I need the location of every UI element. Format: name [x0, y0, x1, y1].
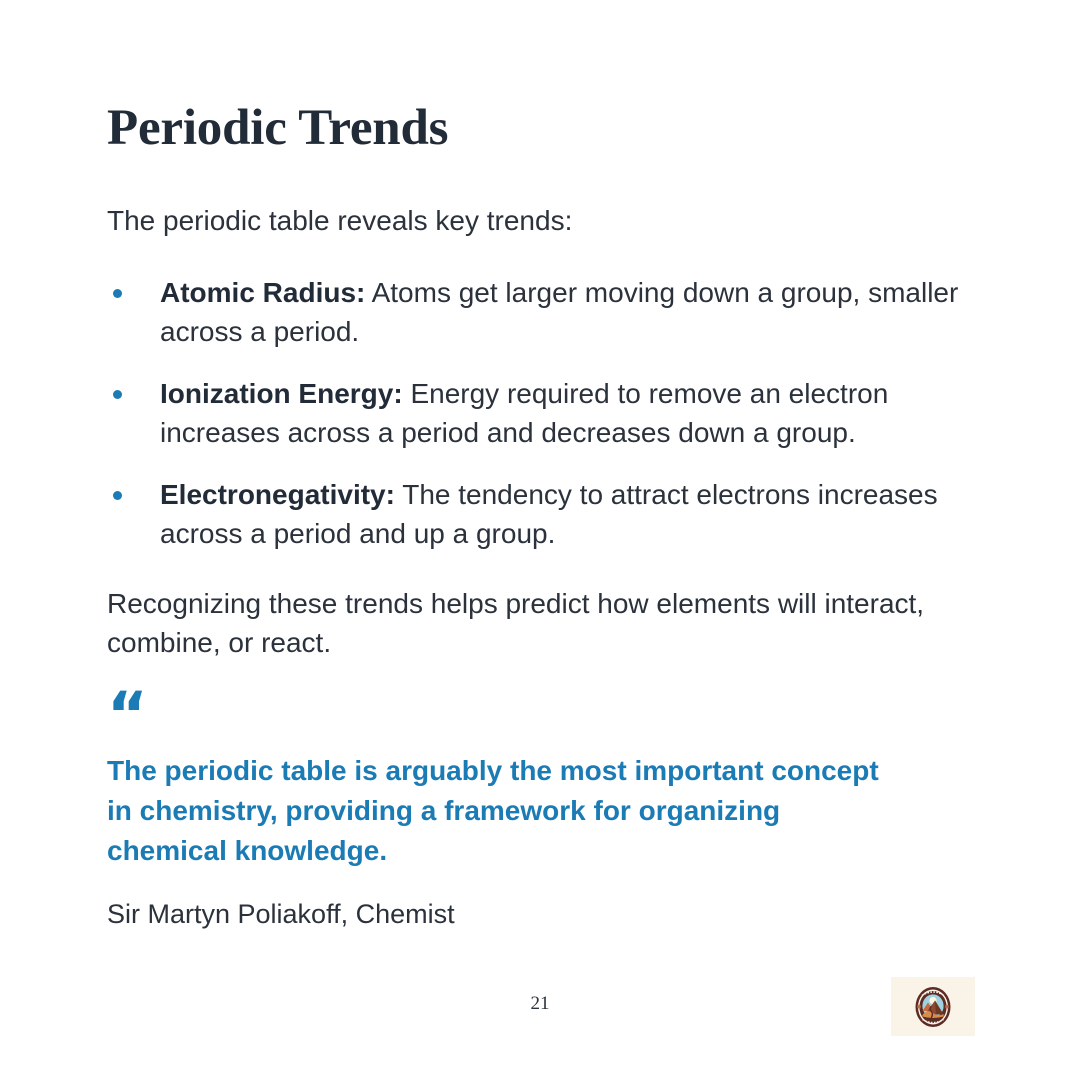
open-quote-icon: “: [107, 693, 975, 737]
list-item: Ionization Energy: Energy required to re…: [107, 374, 975, 453]
slide-content: Periodic Trends The periodic table revea…: [107, 100, 975, 934]
logo-badge: [891, 977, 975, 1036]
page-title: Periodic Trends: [107, 100, 975, 157]
bullet-term: Ionization Energy:: [160, 378, 403, 409]
bullet-dot-icon: [113, 289, 122, 298]
bullet-term: Atomic Radius:: [160, 277, 365, 308]
mountain-sun-badge-logo: [909, 983, 957, 1031]
quote-attribution: Sir Martyn Poliakoff, Chemist: [107, 896, 975, 934]
quote-text: The periodic table is arguably the most …: [107, 751, 897, 870]
bullet-dot-icon: [113, 491, 122, 500]
list-item: Atomic Radius: Atoms get larger moving d…: [107, 273, 975, 352]
summary-paragraph: Recognizing these trends helps predict h…: [107, 584, 967, 664]
slide-canvas: Periodic Trends The periodic table revea…: [0, 0, 1080, 1080]
bullet-term: Electronegativity:: [160, 479, 395, 510]
pull-quote: “ The periodic table is arguably the mos…: [107, 693, 975, 934]
bullet-dot-icon: [113, 390, 122, 399]
trends-bullet-list: Atomic Radius: Atoms get larger moving d…: [107, 273, 975, 554]
list-item: Electronegativity: The tendency to attra…: [107, 475, 975, 554]
intro-paragraph: The periodic table reveals key trends:: [107, 201, 975, 241]
